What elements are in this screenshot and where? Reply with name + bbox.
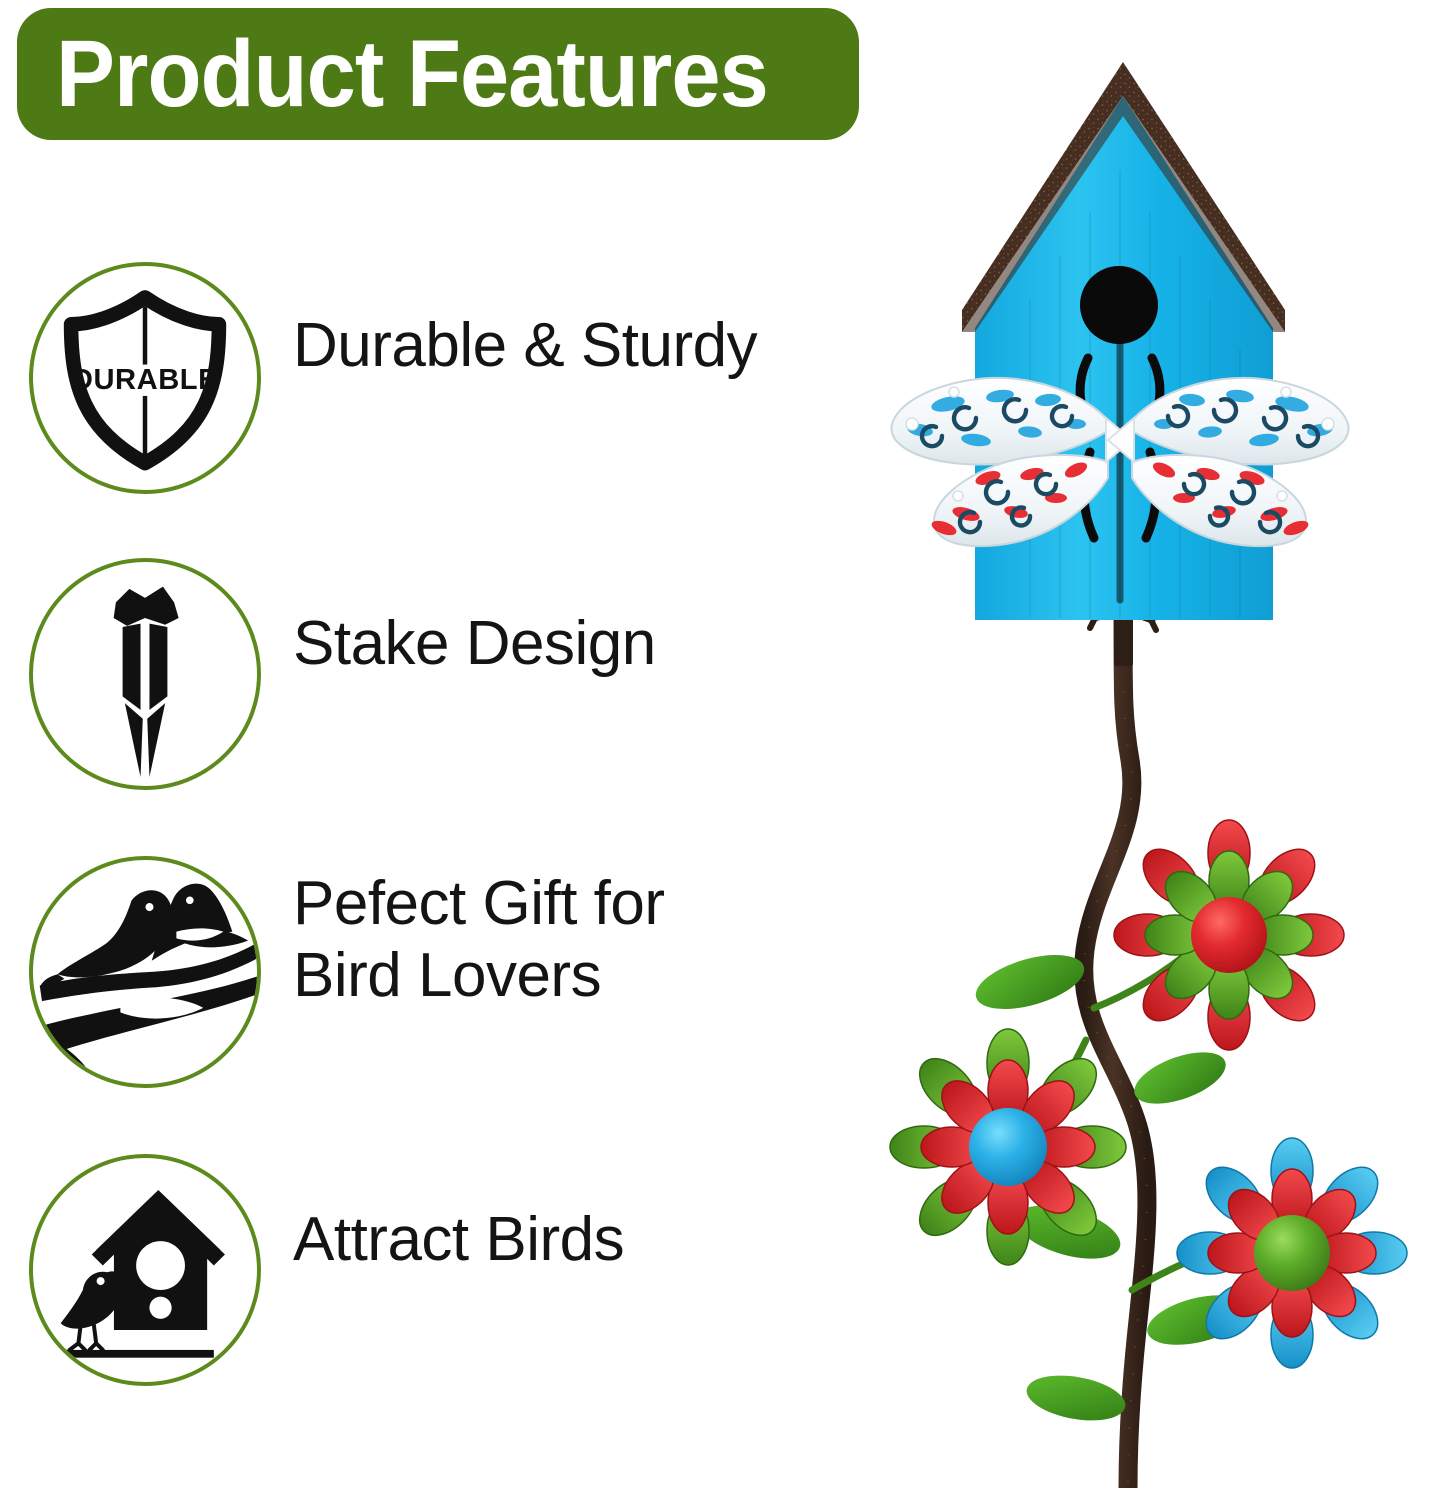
two-birds-on-branch-icon (29, 856, 261, 1088)
entrance-hole (1080, 266, 1158, 344)
feature-item-gift: Pefect Gift for Bird Lovers (0, 854, 880, 1152)
shield-icon-text: DURABLE (72, 364, 218, 396)
dragonfly-decoration (891, 344, 1348, 600)
feature-label-gift: Pefect Gift for Bird Lovers (293, 868, 665, 1012)
feature-item-durable: DURABLE Durable & Sturdy (0, 258, 880, 556)
page-title-badge: Product Features (17, 8, 859, 140)
leaf (970, 944, 1090, 1019)
leaf (1128, 1042, 1233, 1114)
feature-item-stake: Stake Design (0, 556, 880, 854)
flower-center (1191, 897, 1267, 973)
flower-middle (890, 1029, 1126, 1265)
flower-center (1254, 1215, 1330, 1291)
flower-top (1114, 820, 1344, 1050)
metal-stake-stem (1084, 604, 1156, 1488)
durable-shield-icon: DURABLE (29, 262, 261, 494)
product-image (880, 0, 1440, 1488)
birdhouse-with-bird-icon (29, 1154, 261, 1386)
leaf (1023, 1369, 1129, 1428)
feature-label-stake: Stake Design (293, 608, 656, 680)
page-title: Product Features (17, 27, 768, 122)
ground-stake-icon (29, 558, 261, 790)
feature-label-attract: Attract Birds (293, 1204, 624, 1276)
feature-label-durable: Durable & Sturdy (293, 310, 757, 382)
flower-center (969, 1108, 1047, 1186)
feature-item-attract: Attract Birds (0, 1152, 880, 1450)
feature-list: DURABLE Durable & Sturdy Stake Design (0, 258, 880, 1450)
flower-bottom (1177, 1138, 1407, 1368)
